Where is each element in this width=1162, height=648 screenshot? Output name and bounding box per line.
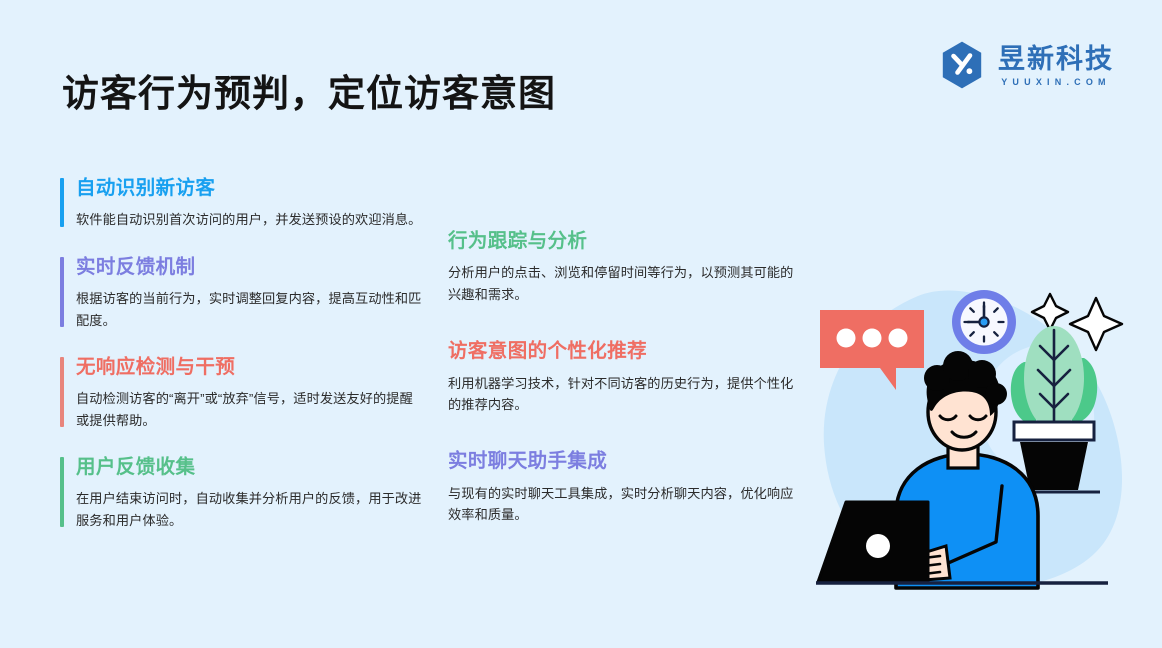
feature-item: 实时聊天助手集成 与现有的实时聊天工具集成，实时分析聊天内容，优化响应效率和质量… <box>448 449 796 525</box>
feature-title: 实时反馈机制 <box>76 255 422 279</box>
feature-accent-bar <box>60 257 64 327</box>
feature-item: 用户反馈收集 在用户结束访问时，自动收集并分析用户的反馈，用于改进服务和用户体验… <box>60 455 422 531</box>
feature-description: 根据访客的当前行为，实时调整回复内容，提高互动性和匹配度。 <box>76 288 422 331</box>
feature-description: 分析用户的点击、浏览和停留时间等行为，以预测其可能的兴趣和需求。 <box>448 262 796 305</box>
feature-title: 自动识别新访客 <box>76 176 422 200</box>
feature-accent-bar <box>60 357 64 427</box>
brand-text: 昱新科技 YUUXIN.COM <box>998 43 1114 86</box>
feature-title: 行为跟踪与分析 <box>448 229 796 253</box>
feature-column-left: 自动识别新访客 软件能自动识别首次访问的用户，并发送预设的欢迎消息。 实时反馈机… <box>60 176 422 555</box>
feature-description: 与现有的实时聊天工具集成，实时分析聊天内容，优化响应效率和质量。 <box>448 483 796 526</box>
feature-accent-bar <box>60 178 64 227</box>
feature-title: 无响应检测与干预 <box>76 355 422 379</box>
feature-item: 无响应检测与干预 自动检测访客的“离开”或“放弃”信号，适时发送友好的提醒或提供… <box>60 355 422 431</box>
feature-title: 访客意图的个性化推荐 <box>448 339 796 363</box>
feature-accent-bar <box>60 457 64 527</box>
feature-item: 访客意图的个性化推荐 利用机器学习技术，针对不同访客的历史行为，提供个性化的推荐… <box>448 339 796 415</box>
feature-column-right: 行为跟踪与分析 分析用户的点击、浏览和停留时间等行为，以预测其可能的兴趣和需求。… <box>448 229 796 559</box>
feature-item: 自动识别新访客 软件能自动识别首次访问的用户，并发送预设的欢迎消息。 <box>60 176 422 231</box>
slide-root: 访客行为预判，定位访客意图 昱新科技 YUUXIN.COM 自动识别新访客 软件… <box>0 0 1162 648</box>
feature-title: 实时聊天助手集成 <box>448 449 796 473</box>
feature-item: 实时反馈机制 根据访客的当前行为，实时调整回复内容，提高互动性和匹配度。 <box>60 255 422 331</box>
feature-description: 利用机器学习技术，针对不同访客的历史行为，提供个性化的推荐内容。 <box>448 373 796 416</box>
clock-icon <box>952 290 1016 354</box>
feature-description: 自动检测访客的“离开”或“放弃”信号，适时发送友好的提醒或提供帮助。 <box>76 388 422 431</box>
person-at-laptop-illustration <box>800 268 1160 616</box>
feature-description: 在用户结束访问时，自动收集并分析用户的反馈，用于改进服务和用户体验。 <box>76 488 422 531</box>
brand-name: 昱新科技 <box>998 45 1114 73</box>
feature-item: 行为跟踪与分析 分析用户的点击、浏览和停留时间等行为，以预测其可能的兴趣和需求。 <box>448 229 796 305</box>
feature-description: 软件能自动识别首次访问的用户，并发送预设的欢迎消息。 <box>76 209 422 230</box>
feature-title: 用户反馈收集 <box>76 455 422 479</box>
brand-domain: YUUXIN.COM <box>998 77 1114 87</box>
page-title: 访客行为预判，定位访客意图 <box>62 63 556 117</box>
laptop-icon <box>818 502 928 582</box>
yuuxin-hexagon-logo-icon <box>939 40 985 90</box>
brand-logo: 昱新科技 YUUXIN.COM <box>939 40 1114 90</box>
